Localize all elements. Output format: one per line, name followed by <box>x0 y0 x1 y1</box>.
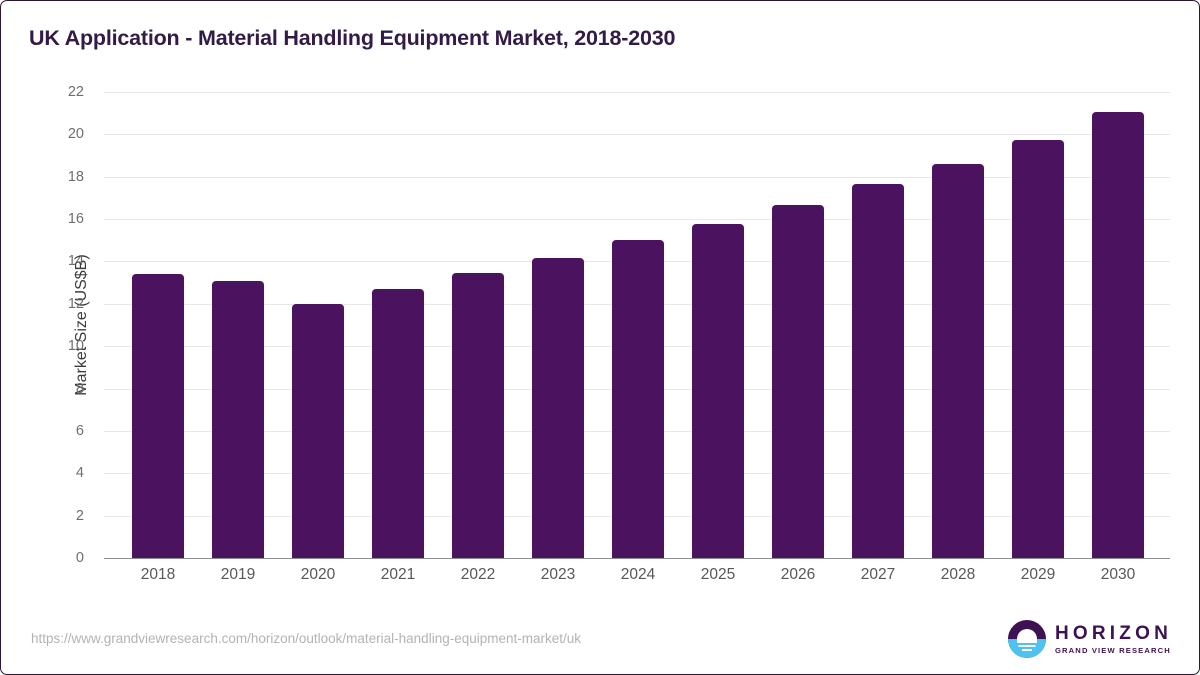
source-url[interactable]: https://www.grandviewresearch.com/horizo… <box>31 631 581 646</box>
bar-slot <box>198 92 278 558</box>
x-axis-tick-label: 2021 <box>358 566 438 584</box>
x-axis-tick-label: 2023 <box>518 566 598 584</box>
y-axis-tick-label: 10 <box>24 338 84 354</box>
y-axis-tick-label: 14 <box>24 253 84 269</box>
bar-2029[interactable] <box>1012 140 1064 558</box>
logo-text: HORIZON GRAND VIEW RESEARCH <box>1055 624 1172 655</box>
bar-2026[interactable] <box>772 205 824 558</box>
y-axis-label: Market Size (US$B) <box>73 254 91 395</box>
bar-slot <box>918 92 998 558</box>
y-axis-tick-label: 20 <box>24 126 84 142</box>
bar-2021[interactable] <box>372 289 424 558</box>
y-axis-tick-label: 2 <box>24 508 84 524</box>
bar-slot <box>758 92 838 558</box>
x-axis-tick-label: 2029 <box>998 566 1078 584</box>
x-axis-tick-label: 2024 <box>598 566 678 584</box>
horizon-logo[interactable]: HORIZON GRAND VIEW RESEARCH <box>1008 619 1172 659</box>
bar-series <box>104 92 1170 558</box>
y-axis-tick-label: 8 <box>24 381 84 397</box>
x-axis-tick-label: 2027 <box>838 566 918 584</box>
y-axis-tick-label: 6 <box>24 423 84 439</box>
x-axis-tick-label: 2018 <box>118 566 198 584</box>
axis-line-zero <box>104 558 1170 559</box>
bar-2024[interactable] <box>612 240 664 558</box>
bar-slot <box>998 92 1078 558</box>
x-axis-tick-label: 2020 <box>278 566 358 584</box>
bar-2025[interactable] <box>692 224 744 558</box>
plot-area: Market Size (US$B) 2220181614121086420 2… <box>104 92 1170 558</box>
x-axis-tick-label: 2028 <box>918 566 998 584</box>
bar-slot <box>838 92 918 558</box>
bar-slot <box>278 92 358 558</box>
logo-brand-name: HORIZON <box>1055 624 1172 643</box>
y-axis-tick-label: 0 <box>24 550 84 566</box>
page-title: UK Application - Material Handling Equip… <box>29 26 675 51</box>
bar-2020[interactable] <box>292 304 344 558</box>
x-axis-tick-label: 2030 <box>1078 566 1158 584</box>
x-axis-tick-label: 2019 <box>198 566 278 584</box>
bar-slot <box>358 92 438 558</box>
x-axis-tick-label: 2022 <box>438 566 518 584</box>
bar-slot <box>678 92 758 558</box>
y-axis-tick-label: 16 <box>24 211 84 227</box>
bar-2023[interactable] <box>532 258 584 558</box>
bar-slot <box>118 92 198 558</box>
y-axis-tick-label: 12 <box>24 296 84 312</box>
bar-2022[interactable] <box>452 273 504 558</box>
y-axis-tick-label: 4 <box>24 465 84 481</box>
bar-slot <box>438 92 518 558</box>
bar-slot <box>1078 92 1158 558</box>
horizon-circle-logo-icon <box>1008 620 1046 658</box>
bar-slot <box>598 92 678 558</box>
bar-2018[interactable] <box>132 274 184 558</box>
bar-2030[interactable] <box>1092 112 1144 558</box>
bar-2019[interactable] <box>212 281 264 558</box>
x-axis-tick-label: 2025 <box>678 566 758 584</box>
bar-slot <box>518 92 598 558</box>
bar-2028[interactable] <box>932 164 984 558</box>
chart-canvas: UK Application - Material Handling Equip… <box>0 0 1200 675</box>
bar-2027[interactable] <box>852 184 904 558</box>
y-axis-tick-label: 18 <box>24 169 84 185</box>
x-axis-tick-label: 2026 <box>758 566 838 584</box>
logo-tagline: GRAND VIEW RESEARCH <box>1055 647 1172 655</box>
y-axis-tick-label: 22 <box>24 84 84 100</box>
